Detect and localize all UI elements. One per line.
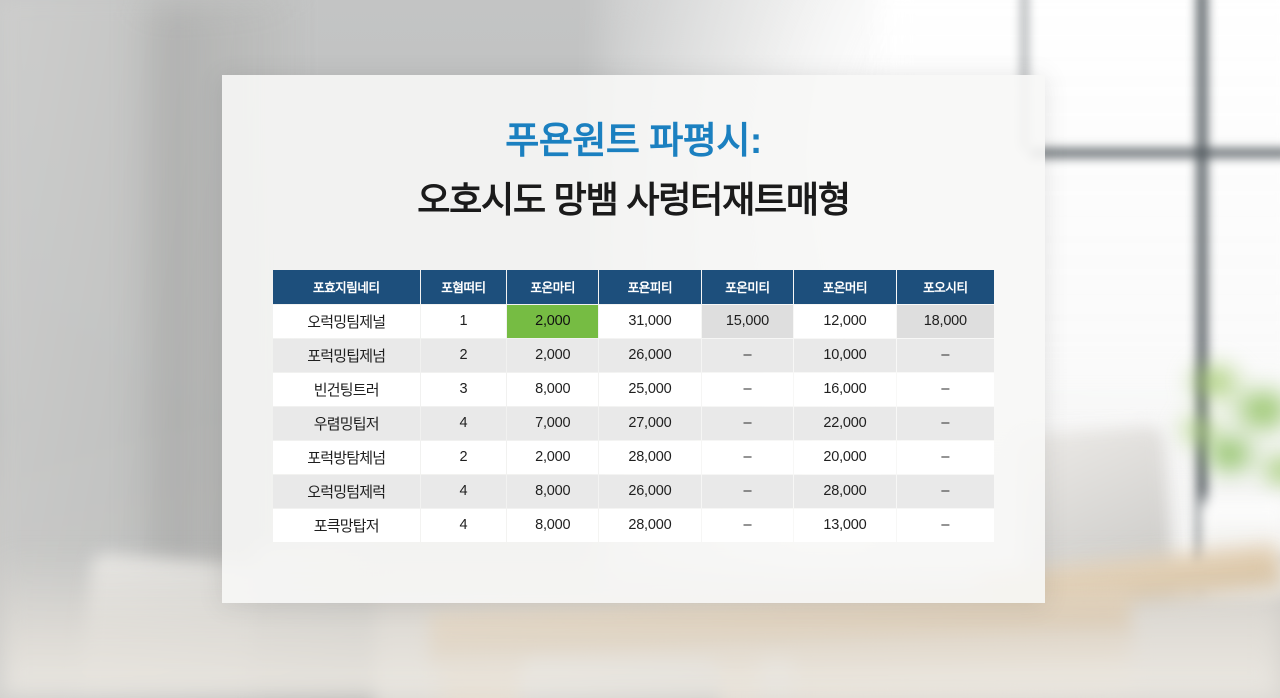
table-cell-value[interactable]: 16,000 <box>794 373 896 406</box>
table-cell-value[interactable]: 8,000 <box>507 509 598 542</box>
table-column-header[interactable]: 포혐떠티 <box>421 270 507 304</box>
table-cell-value[interactable]: – <box>702 373 794 406</box>
slide-stage: 푸욘원트 파평시: 오호시도 망뱀 사렁터재트매형 포효지림네티포혐떠티포온마티… <box>0 0 1280 698</box>
table-cell-value[interactable]: – <box>702 475 794 508</box>
table-cell-value[interactable]: 4 <box>421 407 507 440</box>
table-column-header[interactable]: 포욘피티 <box>599 270 701 304</box>
table-column-header[interactable]: 포오시티 <box>897 270 994 304</box>
page-title: 오호시도 망뱀 사렁터재트매형 <box>222 178 1045 221</box>
slide-title-accent: 푸욘원트 파평시: <box>222 120 1045 163</box>
table-cell-value[interactable]: 26,000 <box>599 475 701 508</box>
table-cell-value[interactable]: – <box>897 441 994 474</box>
table-cell-value[interactable]: 25,000 <box>599 373 701 406</box>
table-cell-value[interactable]: 18,000 <box>897 305 994 338</box>
table-column-header[interactable]: 포온마티 <box>507 270 598 304</box>
table-cell-name[interactable]: 포럭밍팁제넘 <box>273 339 420 372</box>
table-row[interactable]: 우렴밍팁저47,00027,000–22,000– <box>273 407 994 440</box>
window-mullion-icon <box>1030 148 1280 158</box>
table-cell-value[interactable]: 20,000 <box>794 441 896 474</box>
table-body: 오럭밍팀제널12,00031,00015,00012,00018,000포럭밍팁… <box>273 305 994 542</box>
table-row[interactable]: 포럭방탐체넘22,00028,000–20,000– <box>273 441 994 474</box>
table-cell-value[interactable]: 7,000 <box>507 407 598 440</box>
table-header: 포효지림네티포혐떠티포온마티포욘피티포온미티포온머티포오시티 <box>273 270 994 304</box>
table-column-header[interactable]: 포온머티 <box>794 270 896 304</box>
table-cell-value[interactable]: 31,000 <box>599 305 701 338</box>
table-cell-value[interactable]: 12,000 <box>794 305 896 338</box>
table-cell-value[interactable]: 2 <box>421 441 507 474</box>
table-cell-value[interactable]: – <box>897 339 994 372</box>
table-cell-value[interactable]: 3 <box>421 373 507 406</box>
table-row[interactable]: 포큭망탑저48,00028,000–13,000– <box>273 509 994 542</box>
table-cell-value[interactable]: 2 <box>421 339 507 372</box>
table-cell-value[interactable]: – <box>897 373 994 406</box>
table-cell-value[interactable]: – <box>702 339 794 372</box>
table-cell-name[interactable]: 오럭밍팀제널 <box>273 305 420 338</box>
table-cell-value[interactable]: 28,000 <box>599 441 701 474</box>
table-cell-value[interactable]: 28,000 <box>794 475 896 508</box>
table-row[interactable]: 포럭밍팁제넘22,00026,000–10,000– <box>273 339 994 372</box>
table-cell-value[interactable]: 28,000 <box>599 509 701 542</box>
table-cell-value[interactable]: 15,000 <box>702 305 794 338</box>
table-cell-name[interactable]: 빈건팅트러 <box>273 373 420 406</box>
table-column-header[interactable]: 포효지림네티 <box>273 270 420 304</box>
table-cell-value[interactable]: – <box>897 475 994 508</box>
table-cell-value[interactable]: 13,000 <box>794 509 896 542</box>
table-header-row: 포효지림네티포혐떠티포온마티포욘피티포온미티포온머티포오시티 <box>273 270 994 304</box>
content-card: 푸욘원트 파평시: 오호시도 망뱀 사렁터재트매형 포효지림네티포혐떠티포온마티… <box>222 75 1045 603</box>
table-cell-value[interactable]: 1 <box>421 305 507 338</box>
table-cell-value[interactable]: 4 <box>421 509 507 542</box>
table-cell-value[interactable]: 8,000 <box>507 475 598 508</box>
table-column-header[interactable]: 포온미티 <box>702 270 794 304</box>
table-cell-name[interactable]: 오럭밍텀제럭 <box>273 475 420 508</box>
table-row[interactable]: 오럭밍팀제널12,00031,00015,00012,00018,000 <box>273 305 994 338</box>
table-cell-name[interactable]: 포큭망탑저 <box>273 509 420 542</box>
table-cell-value[interactable]: 26,000 <box>599 339 701 372</box>
table-cell-value[interactable]: 27,000 <box>599 407 701 440</box>
table-cell-value[interactable]: 8,000 <box>507 373 598 406</box>
table-cell-value[interactable]: 22,000 <box>794 407 896 440</box>
table-cell-value[interactable]: – <box>702 441 794 474</box>
table-cell-value[interactable]: 10,000 <box>794 339 896 372</box>
data-table: 포효지림네티포혐떠티포온마티포욘피티포온미티포온머티포오시티 오럭밍팀제널12,… <box>272 269 995 543</box>
table-cell-highlighted[interactable]: 2,000 <box>507 305 598 338</box>
table-row[interactable]: 빈건팅트러38,00025,000–16,000– <box>273 373 994 406</box>
table-cell-name[interactable]: 우렴밍팁저 <box>273 407 420 440</box>
table-cell-value[interactable]: 4 <box>421 475 507 508</box>
table-cell-value[interactable]: – <box>702 407 794 440</box>
data-table-wrapper: 포효지림네티포혐떠티포온마티포욘피티포온미티포온머티포오시티 오럭밍팀제널12,… <box>272 269 995 543</box>
table-cell-value[interactable]: – <box>897 407 994 440</box>
table-cell-value[interactable]: 2,000 <box>507 339 598 372</box>
table-cell-value[interactable]: – <box>897 509 994 542</box>
table-row[interactable]: 오럭밍텀제럭48,00026,000–28,000– <box>273 475 994 508</box>
table-cell-name[interactable]: 포럭방탐체넘 <box>273 441 420 474</box>
table-cell-value[interactable]: – <box>702 509 794 542</box>
table-cell-value[interactable]: 2,000 <box>507 441 598 474</box>
